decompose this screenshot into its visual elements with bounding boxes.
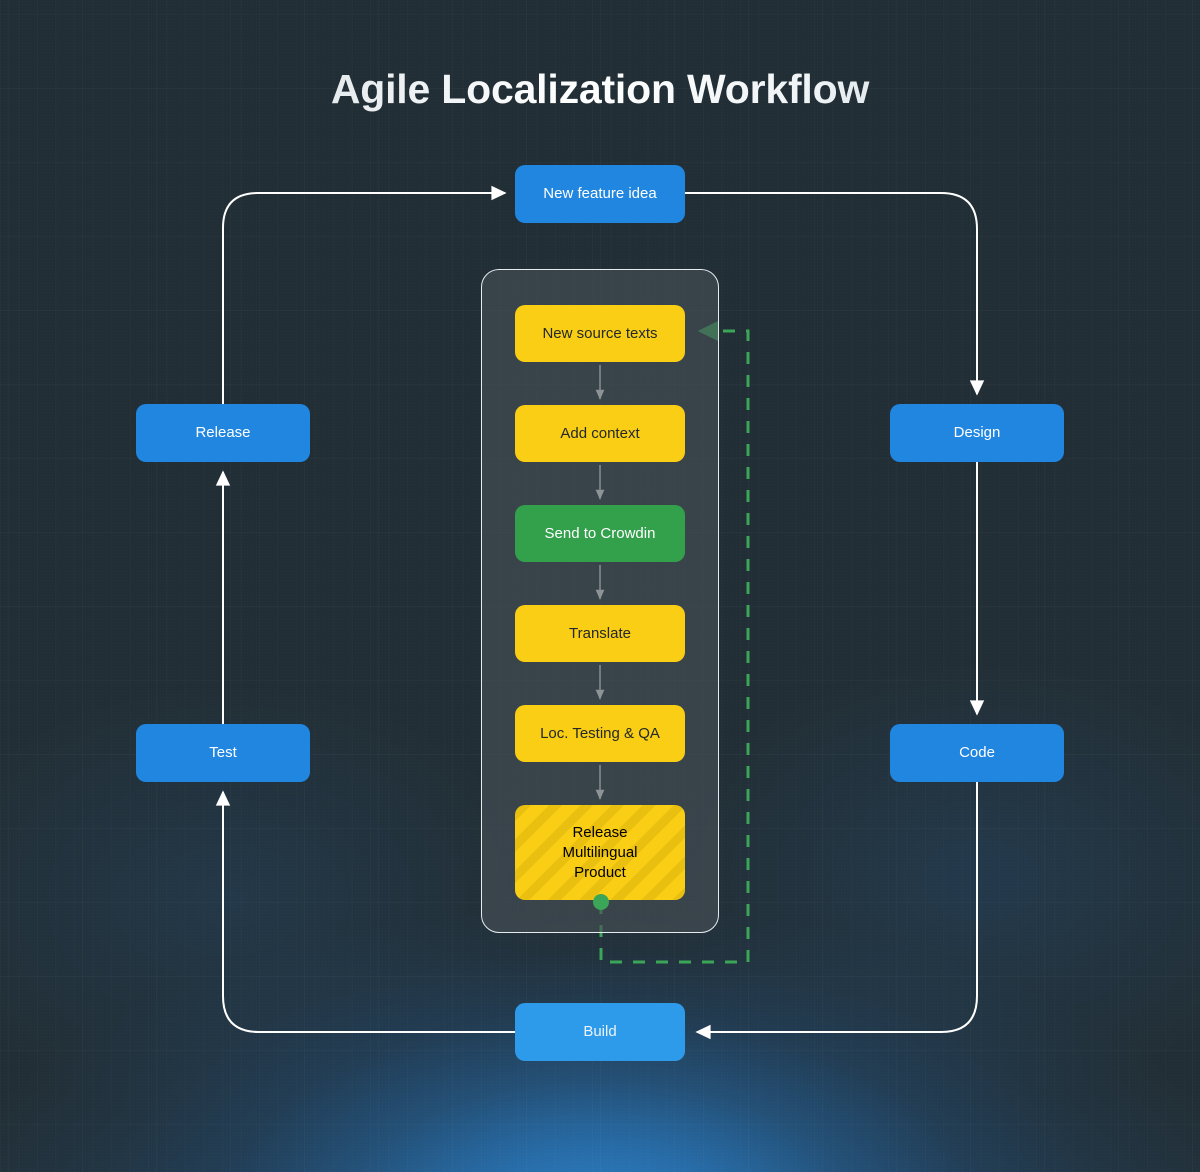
node-translate-label: Translate: [569, 624, 631, 644]
node-test[interactable]: Test: [136, 724, 310, 782]
node-release-multilingual-product-label: Release Multilingual Product: [562, 823, 637, 883]
node-release-label: Release: [195, 423, 250, 443]
node-translate[interactable]: Translate: [515, 605, 685, 662]
node-design[interactable]: Design: [890, 404, 1064, 462]
edge-build-to-test: [223, 792, 515, 1032]
node-new-source-texts-label: New source texts: [542, 324, 657, 344]
node-new-feature-idea-label: New feature idea: [543, 184, 656, 204]
node-code-label: Code: [959, 743, 995, 763]
diagram-canvas: Agile Localization Workflow: [0, 0, 1200, 1172]
node-send-to-crowdin[interactable]: Send to Crowdin: [515, 505, 685, 562]
node-design-label: Design: [954, 423, 1001, 443]
node-new-feature-idea[interactable]: New feature idea: [515, 165, 685, 223]
edge-new-feature-idea-to-design: [685, 193, 977, 394]
node-loc-testing-qa-label: Loc. Testing & QA: [540, 724, 660, 744]
node-release[interactable]: Release: [136, 404, 310, 462]
node-loc-testing-qa[interactable]: Loc. Testing & QA: [515, 705, 685, 762]
node-code[interactable]: Code: [890, 724, 1064, 782]
node-test-label: Test: [209, 743, 237, 763]
page-title: Agile Localization Workflow: [0, 66, 1200, 113]
node-build[interactable]: Build: [515, 1003, 685, 1061]
node-new-source-texts[interactable]: New source texts: [515, 305, 685, 362]
edge-code-to-build: [697, 782, 977, 1032]
node-add-context-label: Add context: [560, 424, 639, 444]
node-release-multilingual-product[interactable]: Release Multilingual Product: [515, 805, 685, 900]
node-build-label: Build: [583, 1022, 616, 1042]
node-add-context[interactable]: Add context: [515, 405, 685, 462]
edge-release-to-new-feature-idea: [223, 193, 505, 404]
feedback-loop-origin-dot: [593, 894, 609, 910]
node-send-to-crowdin-label: Send to Crowdin: [545, 524, 656, 544]
